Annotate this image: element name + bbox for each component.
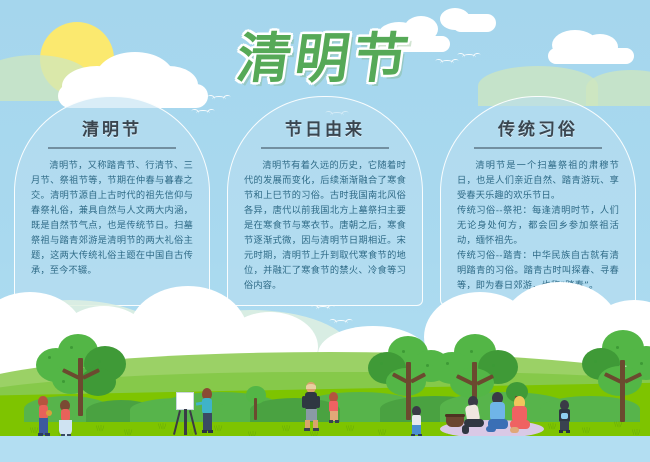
grass-tuft: \\|/ — [282, 426, 290, 432]
grass-tuft: \\|/ — [548, 424, 556, 430]
tree-icon-4 — [582, 330, 650, 422]
panel-body-2: 清明节有着久远的历史，它随着时代的发展而变化，后续渐渐融合了寒食节和上巳节的习俗… — [244, 158, 406, 294]
child-with-ball — [408, 406, 426, 438]
page-title: 清明节 — [0, 14, 650, 93]
panel-qingmingjie[interactable]: 清明节 清明节，又称踏青节、行清节、三月节、祭祖节等，节期在仲春与暮春之交。清明… — [14, 96, 210, 306]
panel-body-3: 清明节是一个扫墓祭祖的肃穆节日，也是人们亲近自然、踏青游玩、享受春天乐趣的欢乐节… — [457, 158, 619, 294]
grass-tuft: \\|/ — [614, 422, 622, 428]
picnic-group — [440, 392, 546, 438]
bird-icon-6 — [316, 306, 330, 313]
panel-chuantongxisu[interactable]: 传统习俗 清明节是一个扫墓祭祖的肃穆节日，也是人们亲近自然、踏青游玩、享受春天乐… — [440, 96, 636, 306]
walking-person-edge — [326, 392, 342, 424]
panel-rule-2 — [261, 147, 389, 149]
bird-icon-7 — [334, 320, 348, 327]
panel-heading-1: 清明节 — [31, 115, 193, 140]
standing-man — [302, 382, 324, 432]
grass-tuft: \\|/ — [158, 424, 166, 430]
painter-with-easel — [176, 388, 222, 438]
grass-tuft: \\|/ — [96, 426, 104, 432]
poster-canvas: 清明节 清明节 清明节，又称踏青节、行清节、三月节、祭祖节等，节期在仲春与暮春之… — [0, 0, 650, 462]
panel-body-3-intro: 清明节是一个扫墓祭祖的肃穆节日，也是人们亲近自然、踏青游玩、享受春天乐趣的欢乐节… — [457, 158, 619, 203]
panel-body-3-line2: 传统习俗--祭祀：每逢清明时节，人们无论身处何方，都会回乡参加祭祖活动，缅怀祖先… — [457, 203, 619, 248]
grass-tuft: \\|/ — [582, 428, 590, 434]
tree-icon-5 — [244, 386, 268, 420]
grass-tuft: \\|/ — [346, 426, 354, 432]
child-standing — [556, 400, 574, 434]
panel-rule-3 — [474, 147, 602, 149]
panel-heading-2: 节日由来 — [244, 115, 406, 140]
panel-jierriyoulai[interactable]: 节日由来 清明节有着久远的历史，它随着时代的发展而变化，后续渐渐融合了寒食节和上… — [227, 96, 423, 306]
panel-heading-3: 传统习俗 — [457, 115, 619, 140]
panel-body-1: 清明节，又称踏青节、行清节、三月节、祭祖节等，节期在仲春与暮春之交。清明节源自上… — [31, 158, 193, 279]
walking-couple — [36, 396, 82, 438]
river-band — [0, 436, 650, 462]
content-panels: 清明节 清明节，又称踏青节、行清节、三月节、祭祖节等，节期在仲春与暮春之交。清明… — [14, 96, 636, 306]
panel-rule-1 — [48, 147, 176, 149]
